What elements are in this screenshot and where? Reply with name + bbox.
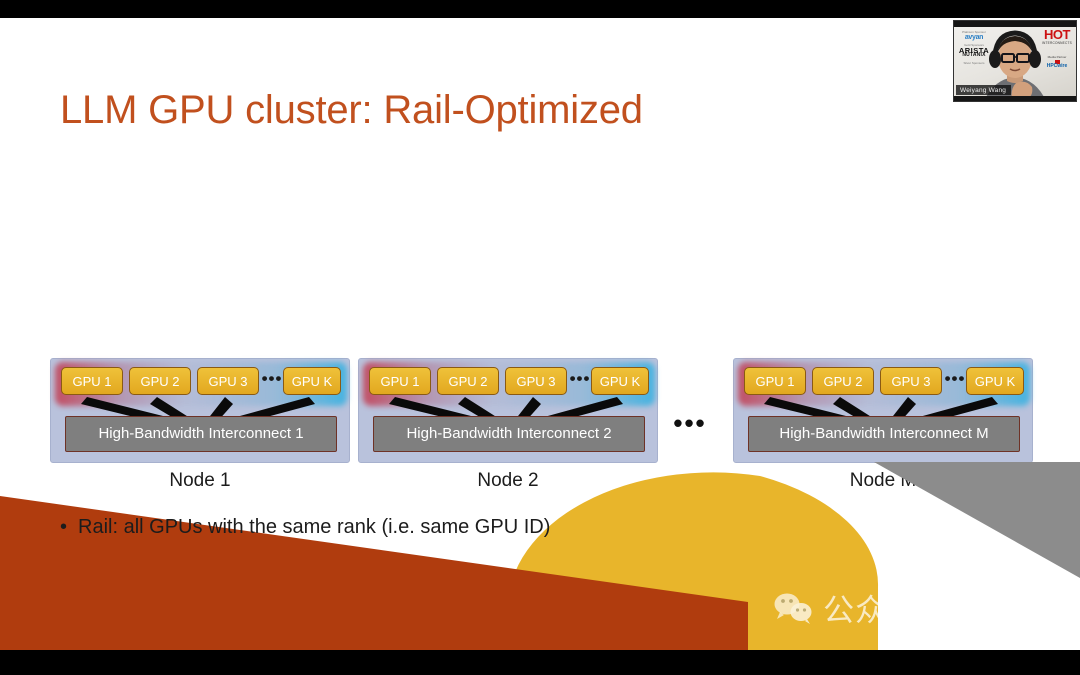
node-m-gpu-1: GPU 1 xyxy=(744,367,806,395)
node-1: GPU 1 GPU 2 GPU 3 ••• GPU K High-Bandwid… xyxy=(50,358,350,463)
sponsor-nutanix-logo: NUTANIX xyxy=(957,53,991,58)
watermark-text: 公众号·竹言见智 xyxy=(823,585,1058,630)
node-2: GPU 1 GPU 2 GPU 3 ••• GPU K High-Bandwid… xyxy=(358,358,658,463)
node-m-gpu-strip: GPU 1 GPU 2 GPU 3 ••• GPU K xyxy=(734,359,1034,409)
node-1-label: Node 1 xyxy=(50,470,350,492)
watermark: 公众号·竹言见智 xyxy=(773,585,1058,630)
node-2-gpu-3: GPU 3 xyxy=(505,367,567,395)
slide-title: LLM GPU cluster: Rail-Optimized xyxy=(60,88,643,133)
letterbox-bottom xyxy=(0,650,1080,675)
node-2-container: GPU 1 GPU 2 GPU 3 ••• GPU K High-Bandwid… xyxy=(358,358,658,463)
node-m-gpu-3: GPU 3 xyxy=(880,367,942,395)
node-2-gpu-1: GPU 1 xyxy=(369,367,431,395)
slide-bullet: •Rail: all GPUs with the same rank (i.e.… xyxy=(60,516,550,539)
presentation-slide: LLM GPU cluster: Rail-Optimized GPU 1 GP… xyxy=(0,18,1080,650)
node-2-gpu-ellipsis: ••• xyxy=(569,367,591,395)
webcam-sponsors-left: Platinum Sponsor avyan Gold Sponsors ARI… xyxy=(957,30,991,66)
node-2-label: Node 2 xyxy=(358,470,658,492)
hot-interconnects-logo: HOT INTERCONNECTS xyxy=(1042,29,1072,45)
presenter-name-tag: Weiyang Wang xyxy=(956,85,1011,95)
node-2-gpu-2: GPU 2 xyxy=(437,367,499,395)
gpu-cluster-diagram: GPU 1 GPU 2 GPU 3 ••• GPU K High-Bandwid… xyxy=(0,358,1080,488)
letterbox-top xyxy=(0,0,1080,18)
node-1-gpu-ellipsis: ••• xyxy=(261,367,283,395)
node-1-interconnect: High-Bandwidth Interconnect 1 xyxy=(65,416,337,452)
sponsor-silver-caption: Silver Sponsors xyxy=(957,61,991,66)
node-m-gpu-2: GPU 2 xyxy=(812,367,874,395)
node-2-interconnect: High-Bandwidth Interconnect 2 xyxy=(373,416,645,452)
sponsor-avyan-logo: avyan xyxy=(957,35,991,40)
webcam-sponsors-right: Media Partner HPCwire xyxy=(1042,55,1072,69)
bullet-marker: • xyxy=(60,516,78,539)
node-m-interconnect: High-Bandwidth Interconnect M xyxy=(748,416,1020,452)
node-m-gpu-ellipsis: ••• xyxy=(944,367,966,395)
node-m-label: Node M xyxy=(733,470,1033,492)
node-1-gpu-k: GPU K xyxy=(283,367,341,395)
node-1-gpu-1: GPU 1 xyxy=(61,367,123,395)
hot-logo-text: HOT xyxy=(1042,29,1072,41)
bullet-text: Rail: all GPUs with the same rank (i.e. … xyxy=(78,516,550,538)
node-gap-ellipsis: ••• xyxy=(668,410,712,436)
node-1-gpu-strip: GPU 1 GPU 2 GPU 3 ••• GPU K xyxy=(51,359,351,409)
node-m: GPU 1 GPU 2 GPU 3 ••• GPU K High-Bandwid… xyxy=(733,358,1033,463)
node-1-gpu-2: GPU 2 xyxy=(129,367,191,395)
node-2-gpu-strip: GPU 1 GPU 2 GPU 3 ••• GPU K xyxy=(359,359,659,409)
presenter-webcam-overlay[interactable]: Platinum Sponsor avyan Gold Sponsors ARI… xyxy=(953,20,1077,102)
node-1-container: GPU 1 GPU 2 GPU 3 ••• GPU K High-Bandwid… xyxy=(50,358,350,463)
node-m-container: GPU 1 GPU 2 GPU 3 ••• GPU K High-Bandwid… xyxy=(733,358,1033,463)
hot-logo-subtitle: INTERCONNECTS xyxy=(1042,41,1072,45)
wechat-icon xyxy=(773,591,815,625)
video-player-frame: LLM GPU cluster: Rail-Optimized GPU 1 GP… xyxy=(0,0,1080,675)
sponsor-hpcwire-logo: HPCwire xyxy=(1042,64,1072,69)
node-m-gpu-k: GPU K xyxy=(966,367,1024,395)
webcam-bottom-bar xyxy=(954,96,1076,101)
node-1-gpu-3: GPU 3 xyxy=(197,367,259,395)
node-2-gpu-k: GPU K xyxy=(591,367,649,395)
